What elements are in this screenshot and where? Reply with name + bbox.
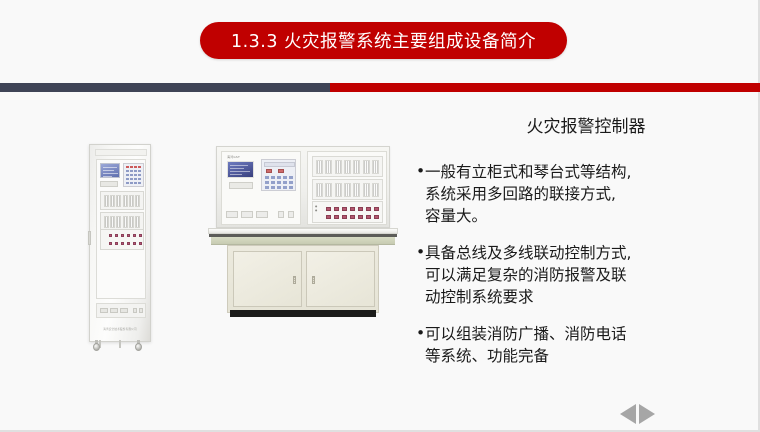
console-lcd-screen [227, 161, 254, 178]
cabinet-lcd-screen [100, 163, 120, 178]
slide-title-banner: 1.3.3 火灾报警系统主要组成设备简介 [200, 22, 567, 59]
console-module-row-2 [312, 179, 383, 200]
header-divider [0, 83, 760, 92]
content-text-column: 火灾报警控制器 • 一般有立柜式和琴台式等结构, 系统采用多回路的联接方式, 容… [416, 112, 746, 382]
bullet-3-line-2: 等系统、功能完备 [425, 345, 746, 367]
console-bottom-buttons [226, 210, 298, 220]
cabinet-caster-right [135, 340, 142, 351]
bullet-2-line-2: 可以满足复杂的消防报警及联 [425, 264, 746, 286]
slide-navigation[interactable] [620, 403, 662, 424]
console-cabinet-door-right [306, 251, 375, 307]
bullet-marker: • [416, 322, 425, 344]
cabinet-front-panel [96, 159, 146, 299]
cabinet-lower-panel [96, 303, 146, 318]
console-right-panel: ●● [307, 151, 387, 225]
cabinet-function-button [100, 181, 118, 187]
console-desk-plinth [230, 310, 376, 317]
console-left-panel: 海湾GST [221, 151, 301, 225]
cabinet-keypad [123, 163, 144, 187]
console-function-button [229, 182, 253, 189]
console-cabinet-door-left [233, 251, 302, 307]
bullet-1-line-2: 系统采用多回路的联接方式, [425, 183, 746, 205]
cabinet-caster-left [93, 340, 100, 351]
cabinet-top-strip [95, 149, 147, 156]
section-heading: 火灾报警控制器 [416, 112, 746, 137]
console-module-row-1 [312, 156, 383, 177]
cabinet-module-row-1 [100, 191, 144, 210]
next-slide-arrow-icon[interactable] [639, 404, 655, 424]
cabinet-controller-image: 海湾安全技术股份有限公司 [89, 144, 151, 354]
console-upper-unit: 海湾GST [216, 146, 390, 228]
bullet-marker: • [416, 160, 425, 182]
console-desk-apron [211, 237, 395, 245]
bullet-item-1: • 一般有立柜式和琴台式等结构, 系统采用多回路的联接方式, 容量大。 [416, 161, 746, 227]
bullet-item-2: • 具备总线及多线联动控制方式, 可以满足复杂的消防报警及联 动控制系统要求 [416, 242, 746, 308]
bullet-1-line-1: 一般有立柜式和琴台式等结构, [425, 161, 746, 183]
previous-slide-arrow-icon[interactable] [620, 404, 636, 424]
cabinet-indicator-panel [100, 229, 144, 250]
cabinet-brand-label: 海湾安全技术股份有限公司 [90, 327, 150, 331]
console-brand-label: 海湾GST [227, 155, 240, 159]
divider-dark-segment [0, 83, 330, 92]
slide-canvas: 1.3.3 火灾报警系统主要组成设备简介 [0, 0, 760, 432]
bullet-1-line-3: 容量大。 [425, 205, 746, 227]
bullet-2-line-1: 具备总线及多线联动控制方式, [425, 242, 746, 264]
divider-red-segment [330, 83, 760, 92]
bullet-2-line-3: 动控制系统要求 [425, 286, 746, 308]
equipment-figure: 海湾安全技术股份有限公司 海湾GST [0, 96, 416, 396]
cabinet-body: 海湾安全技术股份有限公司 [89, 144, 151, 342]
console-keypad [261, 159, 296, 191]
console-desk-cabinet [227, 245, 379, 313]
console-indicator-panel: ●● [312, 201, 383, 223]
page-title: 1.3.3 火灾报警系统主要组成设备简介 [231, 28, 536, 53]
bullet-marker: • [416, 241, 425, 263]
bullet-item-3: • 可以组装消防广播、消防电话 等系统、功能完备 [416, 323, 746, 367]
cabinet-side-handle [88, 231, 91, 245]
console-controller-image: 海湾GST [208, 146, 398, 362]
bullet-3-line-1: 可以组装消防广播、消防电话 [425, 323, 746, 345]
